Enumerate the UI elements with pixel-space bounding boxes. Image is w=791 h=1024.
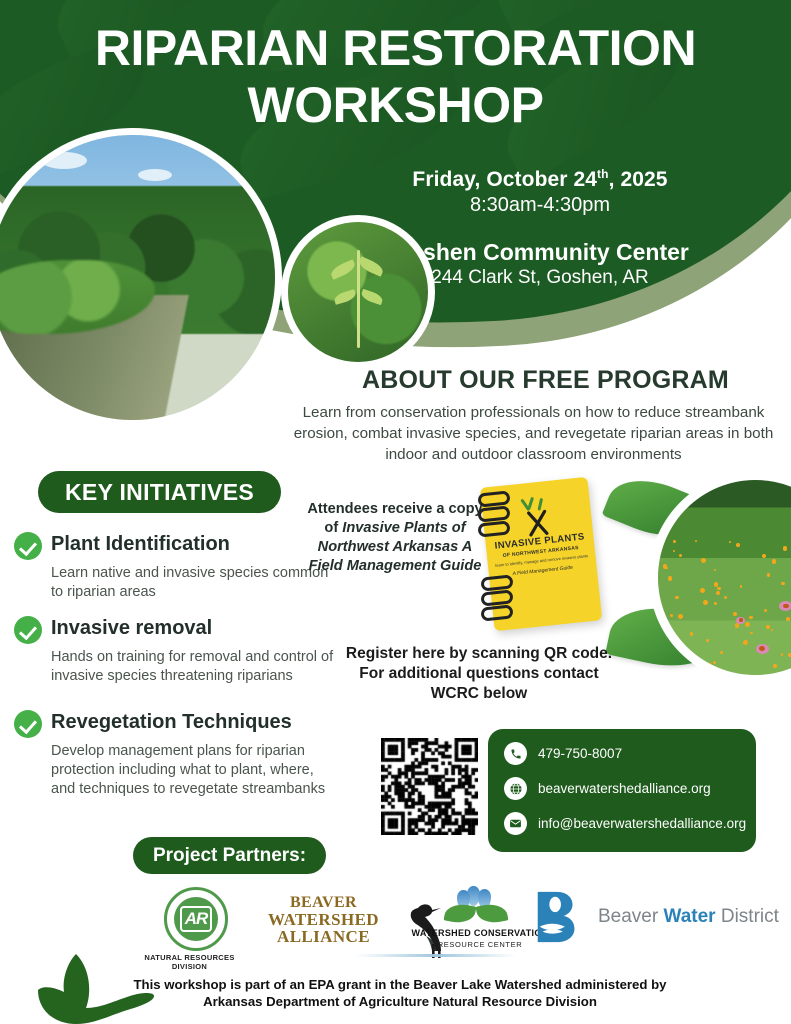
partner-logos: AR NATURAL RESOURCES DIVISION BEAVER WAT… <box>120 888 780 968</box>
about-heading: ABOUT OUR FREE PROGRAM <box>300 366 791 395</box>
initiative-item: Plant Identification Learn native and in… <box>14 530 334 602</box>
bwa-wordmark: BEAVER WATERSHED ALLIANCE <box>236 894 411 945</box>
initiative-item: Invasive removal Hands on training for r… <box>14 614 334 686</box>
registration-qr-code[interactable] <box>381 738 478 835</box>
footer-line-2: Arkansas Department of Agriculture Natur… <box>100 993 700 1010</box>
website-url: beaverwatershedalliance.org <box>538 781 711 796</box>
bwd-part1: Beaver <box>598 906 663 927</box>
bwd-b-mark-icon <box>530 888 588 946</box>
garden-tools-icon <box>514 494 560 538</box>
beaver-water-district-logo: Beaver Water District <box>530 888 779 946</box>
about-body: Learn from conservation professionals on… <box>276 402 791 465</box>
register-instructions: Register here by scanning QR code. For a… <box>345 644 613 704</box>
seedling-stem <box>357 250 360 348</box>
initiative-desc: Hands on training for removal and contro… <box>51 648 334 686</box>
email-address: info@beaverwatershedalliance.org <box>538 816 746 831</box>
title-line-1: RIPARIAN RESTORATION <box>95 20 696 76</box>
title-line-2: WORKSHOP <box>22 77 769 134</box>
event-date-suffix: , 2025 <box>609 168 668 191</box>
check-circle-icon <box>14 616 42 644</box>
ar-seal-mark: AR <box>174 897 218 941</box>
phone-icon <box>504 742 527 765</box>
initiative-desc: Learn native and invasive species common… <box>51 564 334 602</box>
bwd-bold: Water <box>663 906 715 927</box>
key-initiatives-pill: KEY INITIATIVES <box>38 471 281 513</box>
initiative-item: Revegetation Techniques Develop manageme… <box>14 708 334 799</box>
riparian-stream-photo <box>0 135 275 420</box>
email-icon <box>504 812 527 835</box>
contact-row-email[interactable]: info@beaverwatershedalliance.org <box>504 812 756 835</box>
bwa-line-3: ALLIANCE <box>236 928 411 945</box>
initiative-title: Revegetation Techniques <box>51 708 292 736</box>
attendees-note: Attendees receive a copy of Invasive Pla… <box>300 500 490 576</box>
initiative-title: Plant Identification <box>51 530 230 558</box>
contact-card: 479-750-8007 beaverwatershedalliance.org… <box>488 729 756 852</box>
event-time: 8:30am-4:30pm <box>300 194 780 217</box>
check-circle-icon <box>14 532 42 560</box>
contact-row-phone[interactable]: 479-750-8007 <box>504 742 756 765</box>
beaver-watershed-alliance-logo: BEAVER WATERSHED ALLIANCE <box>236 894 411 945</box>
wildflower-prairie-photo <box>658 480 791 675</box>
event-date: Friday, October 24th, 2025 <box>300 167 780 192</box>
notebook-cover-text: INVASIVE PLANTS OF NORTHWEST ARKANSAS le… <box>485 530 596 579</box>
footer-line-1: This workshop is part of an EPA grant in… <box>100 976 700 993</box>
initiative-title: Invasive removal <box>51 614 212 642</box>
globe-icon <box>504 777 527 800</box>
bwa-line-2: WATERSHED <box>236 911 411 928</box>
project-partners-pill: Project Partners: <box>133 837 326 874</box>
footer-note: This workshop is part of an EPA grant in… <box>100 976 700 1010</box>
bwd-part2: District <box>716 906 779 927</box>
phone-number: 479-750-8007 <box>538 746 622 761</box>
bwd-wordmark: Beaver Water District <box>598 906 779 928</box>
flyer-page: RIPARIAN RESTORATION WORKSHOP Friday, Oc… <box>0 0 791 1024</box>
prairie-background <box>658 480 791 675</box>
page-title: RIPARIAN RESTORATION WORKSHOP <box>0 20 791 134</box>
contact-row-website[interactable]: beaverwatershedalliance.org <box>504 777 756 800</box>
event-date-ordinal: th <box>597 167 609 181</box>
leaf-icon <box>444 902 477 926</box>
leaf-icon <box>476 902 509 926</box>
check-circle-icon <box>14 710 42 738</box>
event-date-prefix: Friday, October 24 <box>412 168 597 191</box>
bwa-underline <box>356 954 516 957</box>
bwa-line-1: BEAVER <box>236 894 411 911</box>
seedling-photo <box>288 222 428 362</box>
ar-seal-text: AR <box>180 906 213 932</box>
initiative-desc: Develop management plans for riparian pr… <box>51 742 334 799</box>
